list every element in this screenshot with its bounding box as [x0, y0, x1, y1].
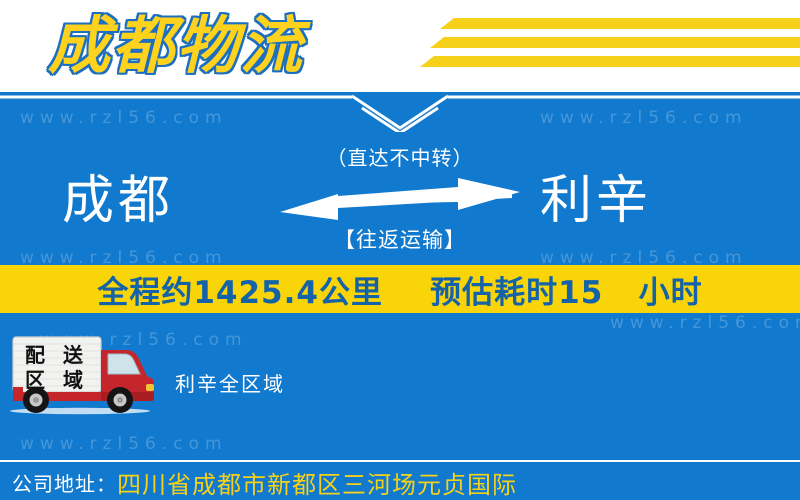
truck-box-char-1: 配 — [25, 343, 45, 367]
origin-city: 成都 — [62, 170, 174, 232]
truck-box-char-2: 送 — [63, 343, 84, 367]
bidirectional-arrow-icon — [280, 178, 520, 222]
truck-box-char-4: 域 — [63, 368, 83, 392]
watermark: www.rzl56.com — [20, 434, 228, 454]
watermark: www.rzl56.com — [610, 313, 800, 333]
round-trip-note: 【往返运输】 — [0, 224, 800, 254]
header: 成都物流 — [0, 0, 800, 92]
distance-duration-text: 全程约1425.4公里 预估耗时15 小时 — [97, 267, 702, 312]
footer-address-bar: 公司地址： 四川省成都市新都区三河场元贞国际 — [0, 460, 800, 500]
page-title: 成都物流 — [48, 4, 304, 88]
decorative-stripes — [420, 14, 800, 78]
distance-band: 全程约1425.4公里 预估耗时15 小时 — [0, 265, 800, 313]
direct-shipping-note: （直达不中转） — [0, 142, 800, 171]
stripe-2 — [430, 37, 800, 48]
watermark: www.rzl56.com — [540, 108, 748, 128]
truck-box-char-3: 区 — [25, 368, 45, 392]
company-address: 四川省成都市新都区三河场元贞国际 — [117, 465, 517, 500]
stripe-1 — [440, 18, 800, 29]
address-label: 公司地址： — [12, 468, 117, 497]
watermark: www.rzl56.com — [20, 108, 228, 128]
destination-city: 利辛 — [540, 170, 652, 232]
delivery-truck-icon: 配 送 区 域 — [8, 332, 158, 417]
logistics-poster: 成都物流 www.rzl56.com www.rzl56.com www.rzl… — [0, 0, 800, 500]
stripe-3 — [420, 56, 800, 67]
coverage-area-text: 利辛全区域 — [175, 368, 285, 397]
